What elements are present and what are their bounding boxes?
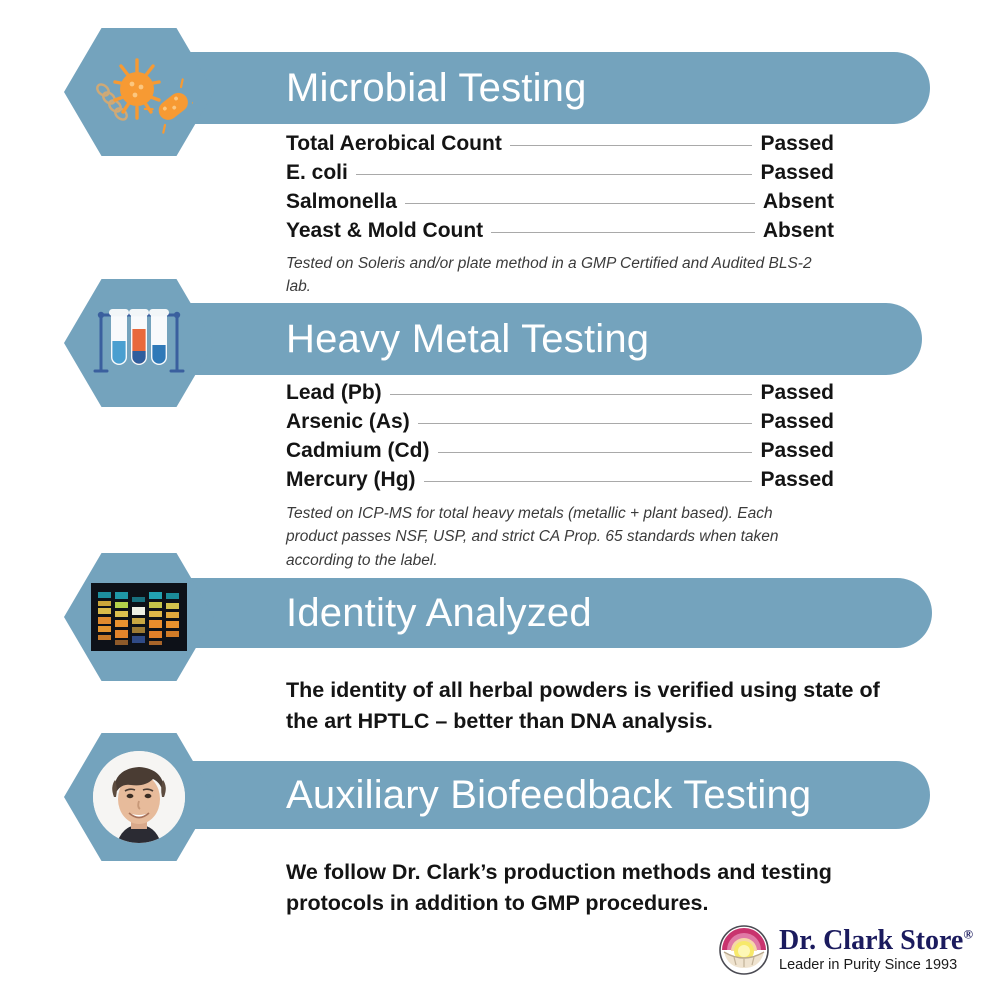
result-value: Passed: [754, 468, 834, 492]
result-row: Mercury (Hg) Passed: [286, 468, 834, 497]
brand-logo[interactable]: Dr. Clark Store® Leader in Purity Since …: [718, 924, 973, 976]
leader-line: [510, 145, 753, 146]
result-value: Passed: [754, 161, 834, 185]
result-label: Total Aerobical Count: [286, 132, 508, 156]
result-value: Passed: [754, 381, 834, 405]
certificate-of-analysis-infographic: Microbial Testing: [0, 0, 1000, 1000]
section-badge-identity: [64, 553, 214, 681]
results-list-microbial: Total Aerobical Count Passed E. coli Pas…: [286, 132, 834, 248]
test-tubes-icon: [64, 279, 214, 407]
logo-text-block: Dr. Clark Store® Leader in Purity Since …: [779, 926, 973, 974]
section-title-microbial: Microbial Testing: [286, 68, 587, 108]
registered-mark: ®: [963, 927, 973, 942]
result-value: Absent: [757, 190, 834, 214]
result-value: Passed: [754, 132, 834, 156]
result-row: Cadmium (Cd) Passed: [286, 439, 834, 468]
footnote-heavy-metal: Tested on ICP-MS for total heavy metals …: [286, 502, 816, 572]
section-title-heavy-metal: Heavy Metal Testing: [286, 319, 649, 359]
result-label: Lead (Pb): [286, 381, 388, 405]
result-label: Cadmium (Cd): [286, 439, 436, 463]
section-badge-heavy-metal: [64, 279, 214, 407]
microbe-icon: [64, 28, 214, 156]
logo-tagline: Leader in Purity Since 1993: [779, 957, 973, 974]
leader-line: [491, 232, 755, 233]
result-row: Yeast & Mold Count Absent: [286, 219, 834, 248]
leader-line: [405, 203, 755, 204]
result-label: Yeast & Mold Count: [286, 219, 489, 243]
section-title-biofeedback: Auxiliary Biofeedback Testing: [286, 775, 811, 815]
result-row: Total Aerobical Count Passed: [286, 132, 834, 161]
result-label: Arsenic (As): [286, 410, 416, 434]
result-label: E. coli: [286, 161, 354, 185]
body-text-identity: The identity of all herbal powders is ve…: [286, 675, 886, 736]
section-banner-heavy-metal: Heavy Metal Testing: [170, 303, 922, 375]
sunrise-bowl-logo-icon: [718, 924, 770, 976]
section-title-identity: Identity Analyzed: [286, 593, 592, 633]
leader-line: [424, 481, 753, 482]
footnote-microbial: Tested on Soleris and/or plate method in…: [286, 252, 826, 299]
logo-name-text: Dr. Clark Store: [779, 925, 963, 956]
leader-line: [438, 452, 753, 453]
result-value: Absent: [757, 219, 834, 243]
body-text-biofeedback: We follow Dr. Clark’s production methods…: [286, 857, 886, 918]
section-banner-microbial: Microbial Testing: [170, 52, 930, 124]
result-label: Salmonella: [286, 190, 403, 214]
result-label: Mercury (Hg): [286, 468, 422, 492]
section-badge-microbial: [64, 28, 214, 156]
result-row: E. coli Passed: [286, 161, 834, 190]
leader-line: [418, 423, 753, 424]
section-badge-biofeedback: [64, 733, 214, 861]
result-row: Salmonella Absent: [286, 190, 834, 219]
result-value: Passed: [754, 439, 834, 463]
chromatogram-icon: [64, 553, 214, 681]
section-banner-biofeedback: Auxiliary Biofeedback Testing: [170, 761, 930, 829]
leader-line: [356, 174, 753, 175]
portrait-avatar: [64, 733, 214, 861]
results-list-heavy-metal: Lead (Pb) Passed Arsenic (As) Passed Cad…: [286, 381, 834, 497]
result-row: Lead (Pb) Passed: [286, 381, 834, 410]
leader-line: [390, 394, 753, 395]
result-row: Arsenic (As) Passed: [286, 410, 834, 439]
result-value: Passed: [754, 410, 834, 434]
section-banner-identity: Identity Analyzed: [170, 578, 932, 648]
logo-name: Dr. Clark Store®: [779, 926, 973, 955]
